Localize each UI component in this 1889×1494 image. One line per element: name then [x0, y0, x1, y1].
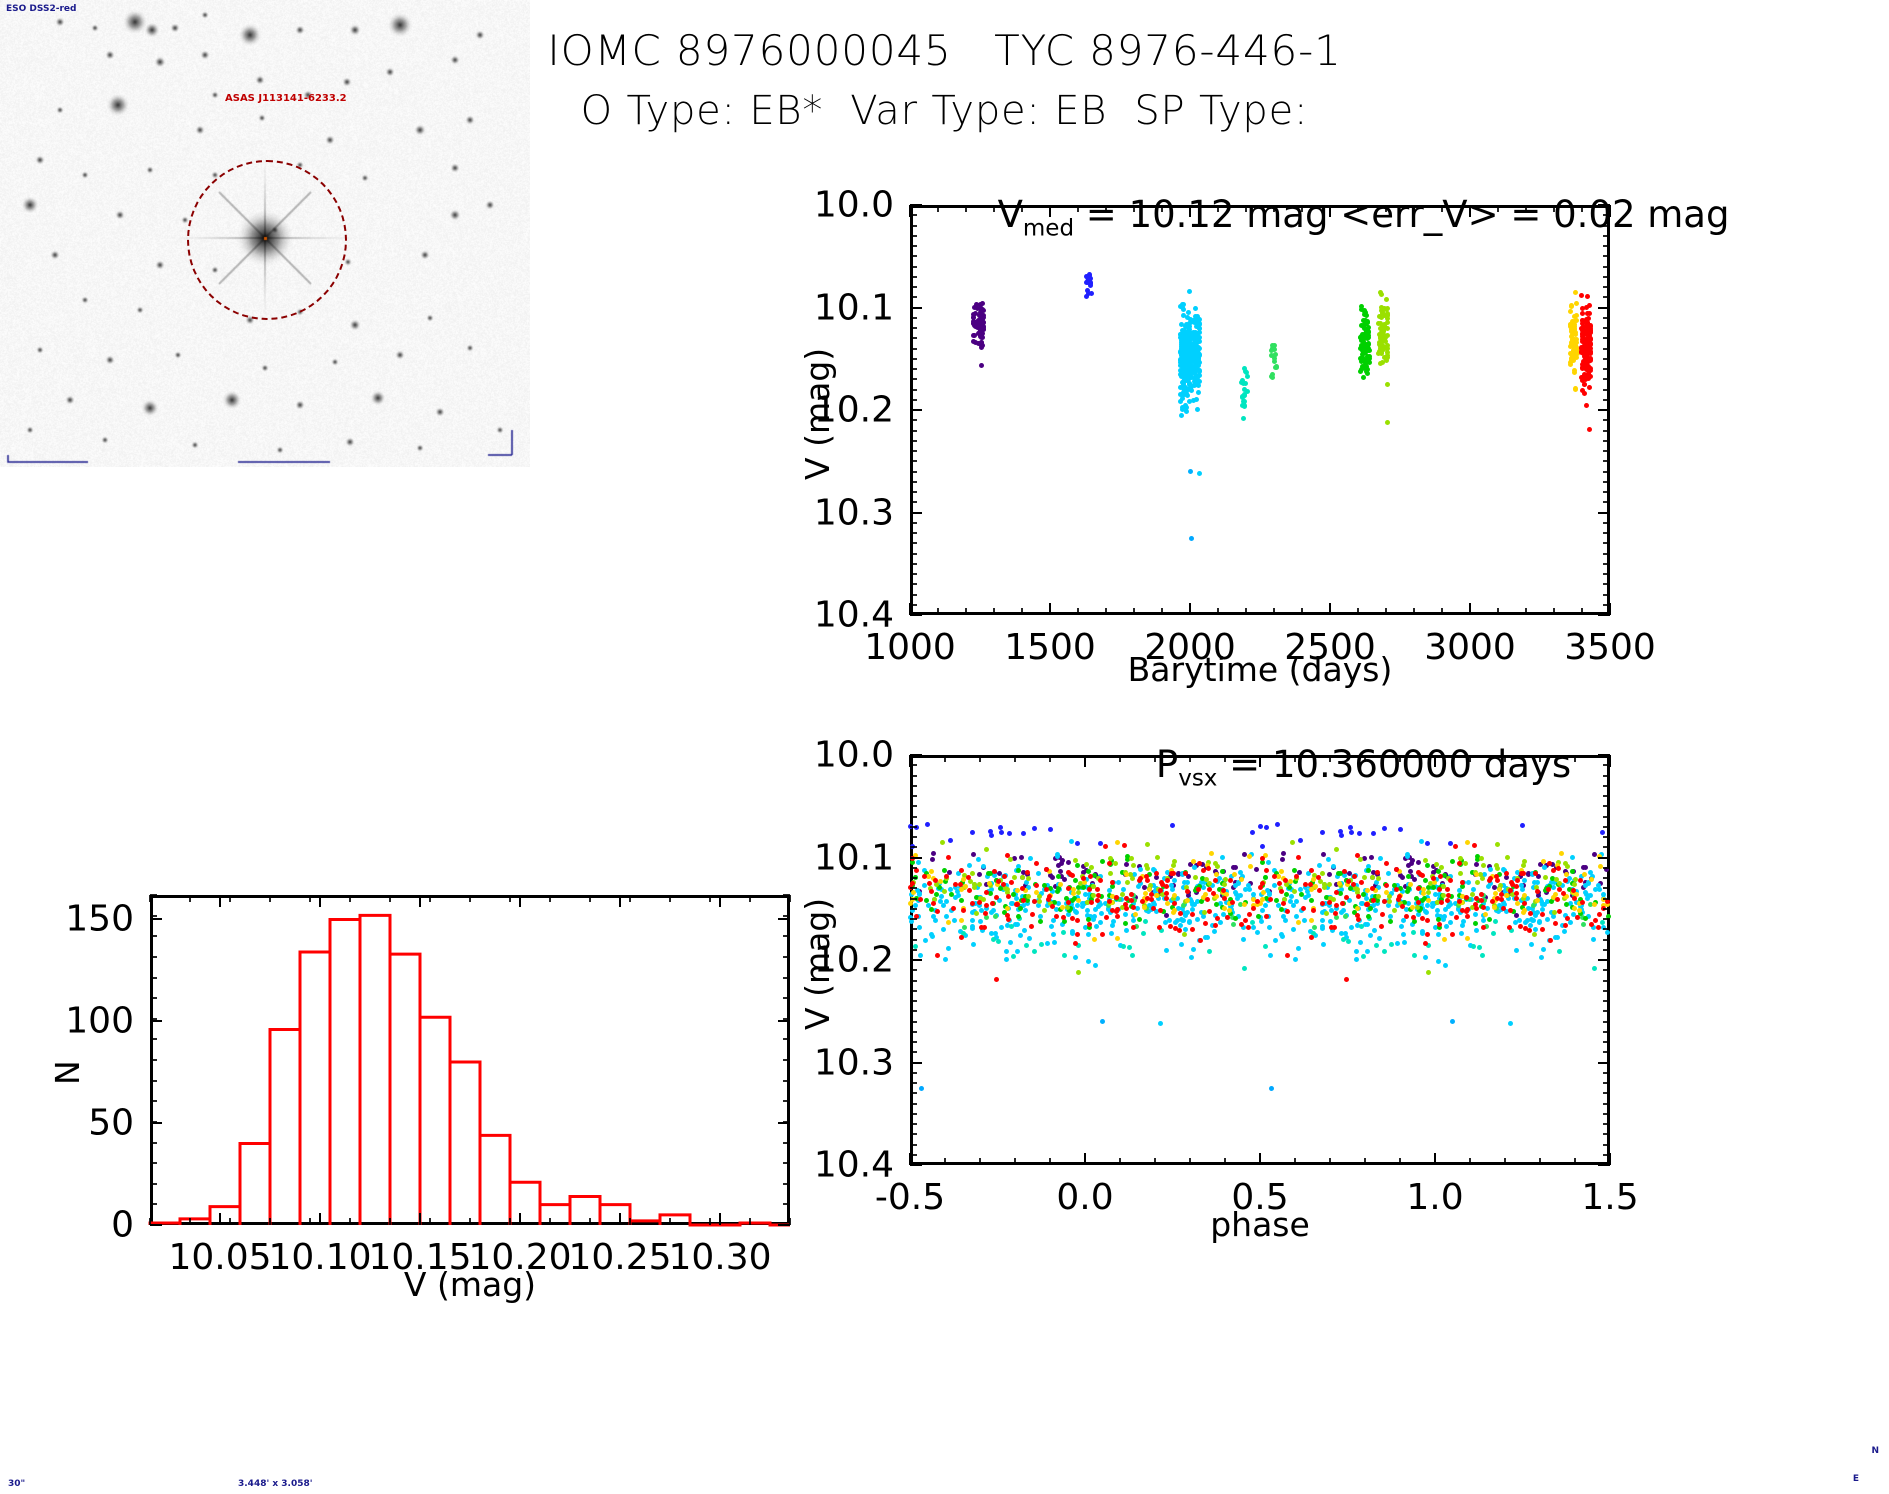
data-point	[1425, 932, 1430, 937]
y-minor-tick	[1603, 440, 1610, 442]
data-point	[977, 900, 982, 905]
data-point	[1527, 928, 1532, 933]
x-minor-tick	[509, 1218, 511, 1225]
y-minor-tick	[1603, 583, 1610, 585]
data-point	[1034, 890, 1039, 895]
data-point	[1399, 924, 1404, 929]
y-minor-tick	[910, 877, 917, 879]
x-major-tick	[719, 1213, 721, 1225]
data-point	[1533, 913, 1538, 918]
data-point	[1535, 898, 1540, 903]
x-major-tick	[619, 895, 621, 907]
y-minor-tick	[1603, 959, 1610, 961]
x-minor-tick	[993, 608, 995, 615]
y-minor-tick	[1603, 1000, 1610, 1002]
data-point	[1481, 905, 1486, 910]
y-minor-tick	[1603, 389, 1610, 391]
data-point	[1437, 922, 1442, 927]
data-point	[1245, 389, 1250, 394]
data-point	[1355, 853, 1360, 858]
data-point	[1292, 889, 1297, 894]
data-point	[993, 931, 998, 936]
data-point	[1274, 898, 1279, 903]
y-minor-tick	[910, 1072, 917, 1074]
y-minor-tick	[910, 245, 917, 247]
x-minor-tick	[1525, 205, 1527, 212]
data-point	[1495, 896, 1500, 901]
y-minor-tick	[910, 1031, 917, 1033]
data-point	[1444, 924, 1449, 929]
data-point	[1597, 887, 1602, 892]
data-point	[1362, 309, 1367, 314]
data-point	[1075, 932, 1080, 937]
data-point	[1364, 348, 1369, 353]
data-point	[1089, 900, 1094, 905]
y-minor-tick	[910, 583, 917, 585]
x-minor-tick	[1294, 755, 1296, 762]
y-minor-tick	[910, 368, 917, 370]
data-point	[1098, 841, 1103, 846]
data-point	[1449, 911, 1454, 916]
x-minor-tick	[1259, 1158, 1261, 1165]
y-minor-tick	[150, 894, 157, 896]
y-minor-tick	[910, 542, 917, 544]
data-point	[1370, 875, 1375, 880]
data-point	[1589, 922, 1594, 927]
data-point	[1181, 903, 1186, 908]
x-major-tick	[719, 895, 721, 907]
y-minor-tick	[783, 1142, 790, 1144]
data-point	[1531, 903, 1536, 908]
y-minor-tick	[150, 1203, 157, 1205]
y-major-tick	[778, 1020, 790, 1022]
data-point	[1124, 928, 1129, 933]
x-major-tick	[319, 895, 321, 907]
y-minor-tick	[910, 235, 917, 237]
y-minor-tick	[910, 563, 917, 565]
y-minor-tick	[1603, 795, 1610, 797]
data-point	[1454, 915, 1459, 920]
y-minor-tick	[150, 977, 157, 979]
y-minor-tick	[1603, 317, 1610, 319]
data-point	[1385, 420, 1390, 425]
data-point	[1477, 945, 1482, 950]
data-point	[1186, 360, 1191, 365]
data-point	[1193, 875, 1198, 880]
data-point	[996, 939, 1001, 944]
x-minor-tick	[1245, 205, 1247, 212]
data-point	[1497, 887, 1502, 892]
x-minor-tick	[1224, 1158, 1226, 1165]
y-minor-tick	[910, 754, 917, 756]
data-point	[1095, 898, 1100, 903]
x-minor-tick	[1154, 1158, 1156, 1165]
y-minor-tick	[910, 1123, 917, 1125]
y-minor-tick	[910, 898, 917, 900]
data-point	[998, 825, 1003, 830]
data-point	[1116, 880, 1121, 885]
y-minor-tick	[910, 846, 917, 848]
x-major-tick	[419, 1213, 421, 1225]
y-minor-tick	[910, 826, 917, 828]
data-point	[1145, 866, 1150, 871]
data-point	[1138, 867, 1143, 872]
y-minor-tick	[910, 255, 917, 257]
y-minor-tick	[1603, 867, 1610, 869]
y-minor-tick	[910, 409, 917, 411]
data-point	[1266, 860, 1271, 865]
data-point	[1277, 881, 1282, 886]
y-minor-tick	[910, 1062, 917, 1064]
data-point	[918, 897, 923, 902]
y-minor-tick	[783, 1183, 790, 1185]
data-point	[1086, 959, 1091, 964]
light-curve-panel: Vmed = 10.12 mag <err_V> = 0.02 mag 1000…	[820, 150, 1860, 670]
data-point	[1436, 917, 1441, 922]
y-minor-tick	[910, 481, 917, 483]
data-point	[987, 881, 992, 886]
y-minor-tick	[1603, 1144, 1610, 1146]
data-point	[1411, 930, 1416, 935]
y-minor-tick	[1603, 1154, 1610, 1156]
x-minor-tick	[1273, 205, 1275, 212]
data-point	[1572, 896, 1577, 901]
data-point	[1572, 322, 1577, 327]
data-point	[1437, 887, 1442, 892]
x-minor-tick	[1413, 608, 1415, 615]
data-point	[1308, 882, 1313, 887]
y-minor-tick	[910, 939, 917, 941]
y-minor-tick	[910, 399, 917, 401]
data-point	[1182, 932, 1187, 937]
data-point	[1312, 925, 1317, 930]
y-tick-label: 100	[65, 1001, 134, 1042]
data-point	[1446, 904, 1451, 909]
x-minor-tick	[469, 1218, 471, 1225]
data-point	[1584, 305, 1589, 310]
data-point	[1066, 900, 1071, 905]
data-point	[1092, 937, 1097, 942]
data-point	[1144, 874, 1149, 879]
data-point	[1100, 932, 1105, 937]
x-minor-tick	[389, 1218, 391, 1225]
data-point	[1388, 914, 1393, 919]
data-point	[1296, 920, 1301, 925]
data-point	[1004, 957, 1009, 962]
data-point	[1127, 945, 1132, 950]
y-minor-tick	[1603, 990, 1610, 992]
data-point	[1425, 918, 1430, 923]
y-tick-label: 150	[65, 899, 134, 940]
x-minor-tick	[1434, 1158, 1436, 1165]
x-minor-tick	[349, 1218, 351, 1225]
y-minor-tick	[910, 1000, 917, 1002]
phase-axes	[910, 755, 1610, 1165]
x-minor-tick	[1021, 608, 1023, 615]
y-minor-tick	[910, 460, 917, 462]
data-point	[1123, 921, 1128, 926]
data-point	[1076, 898, 1081, 903]
data-point	[962, 925, 967, 930]
data-point	[1218, 920, 1223, 925]
x-minor-tick	[1609, 755, 1611, 762]
x-minor-tick	[669, 895, 671, 902]
x-minor-tick	[1497, 205, 1499, 212]
y-minor-tick	[150, 1059, 157, 1061]
x-minor-tick	[1329, 1158, 1331, 1165]
data-point	[1439, 900, 1444, 905]
x-minor-tick	[1077, 608, 1079, 615]
data-point	[1190, 357, 1195, 362]
data-point	[1453, 844, 1458, 849]
x-minor-tick	[1189, 608, 1191, 615]
y-minor-tick	[1603, 399, 1610, 401]
x-minor-tick	[1329, 608, 1331, 615]
y-minor-tick	[910, 532, 917, 534]
data-point	[1298, 887, 1303, 892]
data-point	[930, 857, 935, 862]
y-minor-tick	[1603, 286, 1610, 288]
data-point	[1038, 914, 1043, 919]
y-tick-label: 0	[111, 1205, 134, 1246]
data-point	[1193, 306, 1198, 311]
data-point	[931, 851, 936, 856]
data-point	[1466, 880, 1471, 885]
data-point	[1479, 892, 1484, 897]
x-minor-tick	[1084, 1158, 1086, 1165]
y-minor-tick	[910, 980, 917, 982]
y-minor-tick	[1603, 1092, 1610, 1094]
data-point	[1605, 930, 1610, 935]
data-point	[1012, 875, 1017, 880]
x-minor-tick	[1357, 608, 1359, 615]
y-minor-tick	[1603, 204, 1610, 206]
y-minor-tick	[910, 1103, 917, 1105]
data-point	[1089, 291, 1094, 296]
y-minor-tick	[910, 317, 917, 319]
x-minor-tick	[1049, 1158, 1051, 1165]
y-minor-tick	[1603, 614, 1610, 616]
data-point	[1294, 874, 1299, 879]
data-point	[1087, 887, 1092, 892]
data-point	[1448, 878, 1453, 883]
y-minor-tick	[1603, 1072, 1610, 1074]
data-point	[1371, 898, 1376, 903]
data-point	[1268, 897, 1273, 902]
data-point	[1479, 898, 1484, 903]
data-point	[1061, 930, 1066, 935]
x-minor-tick	[1189, 755, 1191, 762]
x-minor-tick	[1217, 205, 1219, 212]
data-point	[1598, 864, 1603, 869]
x-minor-tick	[1133, 608, 1135, 615]
data-point	[1246, 925, 1251, 930]
x-minor-tick	[993, 205, 995, 212]
data-point	[994, 895, 999, 900]
data-point	[1382, 899, 1387, 904]
x-major-tick	[219, 1213, 221, 1225]
data-point	[973, 340, 978, 345]
data-point	[939, 894, 944, 899]
data-point	[1289, 894, 1294, 899]
data-point	[978, 334, 983, 339]
y-minor-tick	[1603, 898, 1610, 900]
x-minor-tick	[1504, 755, 1506, 762]
data-point	[1384, 861, 1389, 866]
data-point	[1115, 936, 1120, 941]
y-tick-label: 10.3	[814, 492, 894, 533]
x-minor-tick	[965, 205, 967, 212]
y-minor-tick	[1603, 532, 1610, 534]
data-point	[1448, 920, 1453, 925]
x-minor-tick	[1154, 755, 1156, 762]
x-minor-tick	[1084, 755, 1086, 762]
y-minor-tick	[1603, 1164, 1610, 1166]
data-point	[1600, 920, 1605, 925]
data-point	[977, 319, 982, 324]
data-point	[1344, 895, 1349, 900]
data-point	[1573, 877, 1578, 882]
data-point	[1556, 866, 1561, 871]
y-minor-tick	[910, 918, 917, 920]
data-point	[1123, 912, 1128, 917]
y-minor-tick	[910, 805, 917, 807]
x-minor-tick	[509, 895, 511, 902]
x-minor-tick	[1581, 608, 1583, 615]
y-minor-tick	[1603, 307, 1610, 309]
data-point	[1005, 853, 1010, 858]
y-minor-tick	[783, 1121, 790, 1123]
x-minor-tick	[629, 1218, 631, 1225]
data-point	[1272, 874, 1277, 879]
data-point	[999, 925, 1004, 930]
data-point	[1436, 959, 1441, 964]
data-point	[1371, 831, 1376, 836]
data-point	[1121, 887, 1126, 892]
y-minor-tick	[1603, 491, 1610, 493]
y-minor-tick	[1603, 754, 1610, 756]
x-minor-tick	[709, 1218, 711, 1225]
x-minor-tick	[1469, 755, 1471, 762]
data-point	[1220, 869, 1225, 874]
data-point	[1376, 876, 1381, 881]
data-point	[1301, 906, 1306, 911]
data-point	[1374, 943, 1379, 948]
y-minor-tick	[910, 450, 917, 452]
data-point	[1416, 870, 1421, 875]
x-minor-tick	[1119, 1158, 1121, 1165]
dss-finder-chart: ESO DSS2-red ASAS J113141-6233.2 30" 3.4…	[0, 0, 530, 467]
data-point	[1473, 921, 1478, 926]
data-point	[1474, 896, 1479, 901]
data-point	[966, 875, 971, 880]
y-minor-tick	[910, 867, 917, 869]
data-point	[1185, 898, 1190, 903]
y-minor-tick	[910, 614, 917, 616]
data-point	[1085, 275, 1090, 280]
data-point	[1032, 826, 1037, 831]
data-point	[1518, 924, 1523, 929]
y-minor-tick	[910, 430, 917, 432]
data-point	[1514, 948, 1519, 953]
data-point	[984, 847, 989, 852]
x-minor-tick	[909, 755, 911, 762]
phase-panel: Pvsx = 10.360000 days -0.50.00.51.01.510…	[820, 700, 1860, 1240]
y-minor-tick	[783, 1059, 790, 1061]
y-minor-tick	[910, 969, 917, 971]
y-minor-tick	[1603, 1021, 1610, 1023]
data-point	[1231, 922, 1236, 927]
x-minor-tick	[979, 1158, 981, 1165]
data-point	[1423, 955, 1428, 960]
data-point	[1171, 871, 1176, 876]
data-point	[1416, 900, 1421, 905]
data-point	[1532, 932, 1537, 937]
data-point	[1379, 315, 1384, 320]
x-minor-tick	[789, 895, 791, 902]
data-point	[980, 326, 985, 331]
x-minor-tick	[269, 1218, 271, 1225]
data-point	[1508, 888, 1513, 893]
y-minor-tick	[910, 512, 917, 514]
x-minor-tick	[965, 608, 967, 615]
data-point	[944, 874, 949, 879]
data-point	[1588, 349, 1593, 354]
y-minor-tick	[1603, 245, 1610, 247]
x-minor-tick	[1497, 608, 1499, 615]
data-point	[1103, 844, 1108, 849]
y-minor-tick	[910, 286, 917, 288]
data-point	[1131, 863, 1136, 868]
x-minor-tick	[1133, 205, 1135, 212]
x-minor-tick	[749, 895, 751, 902]
x-minor-tick	[1399, 755, 1401, 762]
data-point	[944, 899, 949, 904]
x-minor-tick	[589, 1218, 591, 1225]
data-point	[1214, 902, 1219, 907]
x-minor-tick	[1574, 1158, 1576, 1165]
data-point	[974, 324, 979, 329]
data-point	[1416, 886, 1421, 891]
x-major-tick	[219, 895, 221, 907]
data-point	[1245, 374, 1250, 379]
data-point	[1378, 361, 1383, 366]
x-minor-tick	[749, 1218, 751, 1225]
data-point	[1495, 842, 1500, 847]
data-point	[1568, 920, 1573, 925]
y-minor-tick	[1603, 563, 1610, 565]
x-minor-tick	[1357, 205, 1359, 212]
x-minor-tick	[309, 1218, 311, 1225]
data-point	[1085, 280, 1090, 285]
data-point	[1436, 932, 1441, 937]
data-point	[1288, 879, 1293, 884]
histogram-panel: 10.0510.1010.1510.2010.2510.30050100150 …	[60, 880, 820, 1310]
x-minor-tick	[1609, 205, 1611, 212]
data-point	[1045, 941, 1050, 946]
data-point	[1158, 888, 1163, 893]
light-curve-xlabel: Barytime (days)	[910, 650, 1610, 689]
x-minor-tick	[944, 755, 946, 762]
data-point	[1425, 841, 1430, 846]
data-point	[1255, 930, 1260, 935]
y-minor-tick	[150, 956, 157, 958]
data-point	[1464, 909, 1469, 914]
y-tick-label: 10.1	[814, 837, 894, 878]
data-point	[1369, 855, 1374, 860]
data-point	[1178, 911, 1183, 916]
data-point	[927, 881, 932, 886]
